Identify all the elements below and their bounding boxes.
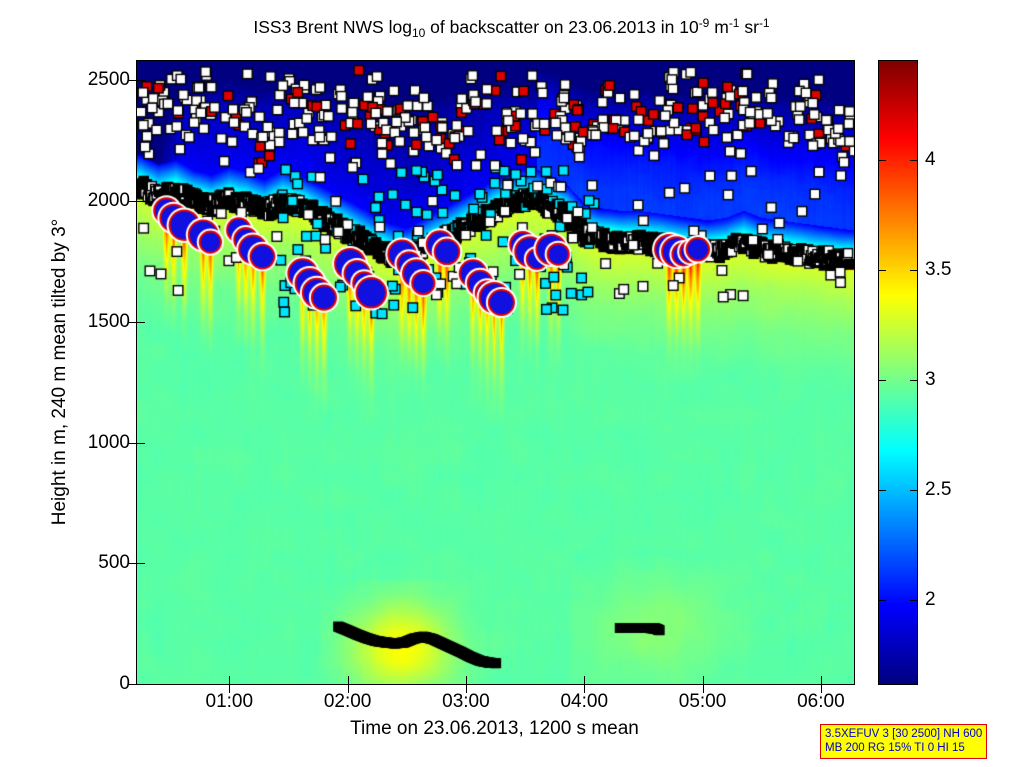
parameter-annotation-box: 3.5XEFUV 3 [30 2500] NH 600 MB 200 RG 15… bbox=[820, 724, 987, 759]
title-sub-10: 10 bbox=[412, 26, 425, 40]
colorbar-tick-label: 2 bbox=[925, 589, 936, 611]
colorbar-tick bbox=[879, 160, 886, 161]
y-axis-tick bbox=[137, 201, 145, 202]
x-axis-tick bbox=[703, 676, 704, 684]
colorbar-tick bbox=[910, 600, 917, 601]
x-axis-tick bbox=[584, 676, 585, 684]
chart-title: ISS3 Brent NWS log10 of backscatter on 2… bbox=[0, 10, 1023, 46]
y-axis-tick-label: 1500 bbox=[88, 311, 130, 333]
title-exp-sr: -1 bbox=[759, 16, 770, 30]
x-axis-tick-label: 05:00 bbox=[679, 691, 727, 713]
y-axis-tick-label: 2000 bbox=[88, 190, 130, 212]
title-mid: of backscatter on 23.06.2013 in 10 bbox=[425, 17, 698, 37]
x-axis-tick bbox=[821, 676, 822, 684]
colorbar-tick bbox=[910, 270, 917, 271]
x-axis-label-text: Time on 23.06.2013, 1200 s mean bbox=[350, 718, 639, 739]
x-axis-tick-label: 04:00 bbox=[560, 691, 608, 713]
y-axis-tick-label: 500 bbox=[98, 552, 130, 574]
figure-canvas: ISS3 Brent NWS log10 of backscatter on 2… bbox=[0, 0, 1023, 767]
y-axis-tick bbox=[137, 322, 145, 323]
x-axis-tick-label: 03:00 bbox=[442, 691, 490, 713]
title-exp-m: -1 bbox=[729, 16, 740, 30]
y-axis-tick-label: 1000 bbox=[88, 432, 130, 454]
y-axis-tick bbox=[137, 563, 145, 564]
colorbar-tick-label: 4 bbox=[925, 149, 936, 171]
y-axis-tick bbox=[137, 684, 145, 685]
colorbar-tick-label: 3.5 bbox=[925, 259, 951, 281]
colorbar-tick bbox=[879, 600, 886, 601]
title-unit-sr: sr bbox=[739, 17, 758, 37]
annotation-line-1: 3.5XEFUV 3 [30 2500] NH 600 bbox=[825, 727, 982, 741]
y-axis-tick bbox=[137, 443, 145, 444]
title-exp-minus9: -9 bbox=[699, 16, 710, 30]
y-axis-label-text: Height in m, 240 m mean tilted by 3° bbox=[49, 218, 71, 524]
y-axis-label: Height in m, 240 m mean tilted by 3° bbox=[47, 60, 73, 683]
colorbar-tick-label: 3 bbox=[925, 369, 936, 391]
colorbar-tick bbox=[910, 490, 917, 491]
x-axis-tick bbox=[348, 676, 349, 684]
x-axis-tick-label: 01:00 bbox=[206, 691, 254, 713]
colorbar-gradient bbox=[879, 61, 917, 684]
colorbar-tick bbox=[879, 270, 886, 271]
plot-area: 05001000150020002500 01:0002:0003:0004:0… bbox=[136, 60, 855, 685]
y-axis-tick-label: 2500 bbox=[88, 69, 130, 91]
x-axis-label: Time on 23.06.2013, 1200 s mean bbox=[136, 718, 853, 740]
colorbar-tick bbox=[910, 160, 917, 161]
title-unit-m: m bbox=[709, 17, 728, 37]
colorbar-tick bbox=[879, 380, 886, 381]
x-axis-tick bbox=[466, 676, 467, 684]
marker-overlay bbox=[137, 61, 854, 684]
colorbar: 22.533.54 bbox=[878, 60, 918, 685]
y-axis-tick-label: 0 bbox=[119, 673, 130, 695]
colorbar-tick bbox=[910, 380, 917, 381]
colorbar-tick bbox=[879, 490, 886, 491]
annotation-line-2: MB 200 RG 15% TI 0 HI 15 bbox=[825, 741, 982, 755]
x-axis-tick bbox=[229, 676, 230, 684]
x-axis-tick-label: 06:00 bbox=[797, 691, 845, 713]
x-axis-tick-label: 02:00 bbox=[324, 691, 372, 713]
title-pre: ISS3 Brent NWS log bbox=[253, 17, 412, 37]
y-axis-tick bbox=[137, 80, 145, 81]
colorbar-tick-label: 2.5 bbox=[925, 479, 951, 501]
